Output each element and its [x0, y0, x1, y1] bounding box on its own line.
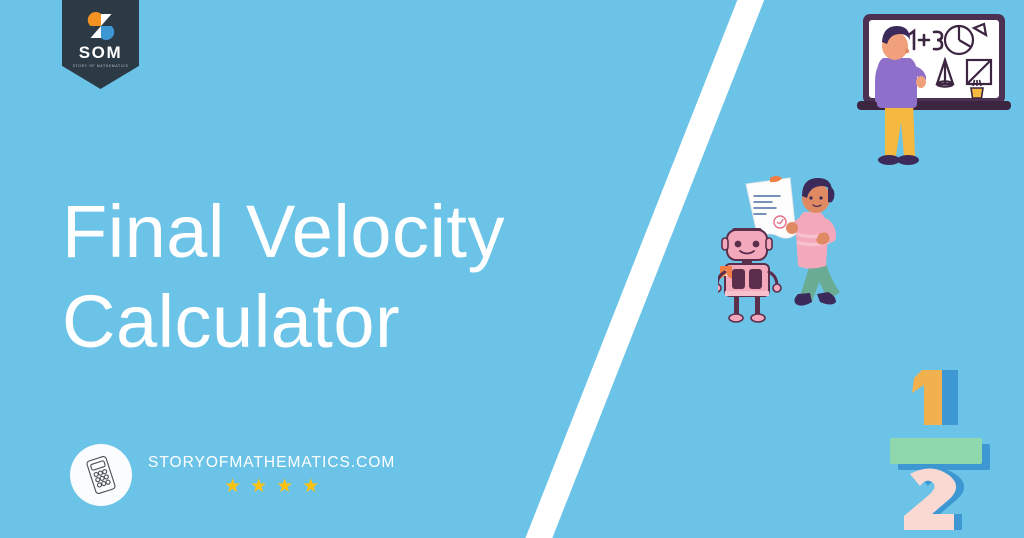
fraction-bar — [890, 438, 982, 464]
som-logo[interactable]: SOM STORY OF MATHEMATICS — [62, 0, 139, 89]
som-logo-wordmark: SOM — [79, 44, 123, 61]
fraction-one-half-illustration — [880, 366, 1005, 531]
rating-stars: ★ ★ ★ ★ — [224, 477, 319, 496]
brand-text-column: STORYOFMATHEMATICS.COM ★ ★ ★ ★ — [148, 454, 395, 496]
star-icon: ★ — [250, 477, 267, 496]
calculator-icon — [79, 453, 123, 497]
brand-footer: STORYOFMATHEMATICS.COM ★ ★ ★ ★ — [70, 444, 395, 506]
fraction-denominator — [904, 468, 956, 530]
person-at-whiteboard-illustration — [855, 2, 1015, 177]
page-title: Final Velocity Calculator — [62, 187, 562, 368]
star-icon: ★ — [224, 477, 241, 496]
robot-with-student-illustration: 1 — [718, 172, 860, 332]
som-logo-mark-icon — [86, 11, 116, 41]
star-icon: ★ — [276, 477, 293, 496]
page-title-line-2: Calculator — [62, 280, 400, 363]
som-logo-tagline: STORY OF MATHEMATICS — [73, 64, 129, 68]
site-url-label[interactable]: STORYOFMATHEMATICS.COM — [148, 454, 395, 472]
page-title-line-1: Final Velocity — [62, 190, 505, 273]
star-icon: ★ — [302, 477, 319, 496]
calculator-badge — [70, 444, 132, 506]
fraction-numerator — [912, 370, 942, 425]
promo-banner: SOM STORY OF MATHEMATICS Final Velocity … — [0, 0, 1024, 538]
